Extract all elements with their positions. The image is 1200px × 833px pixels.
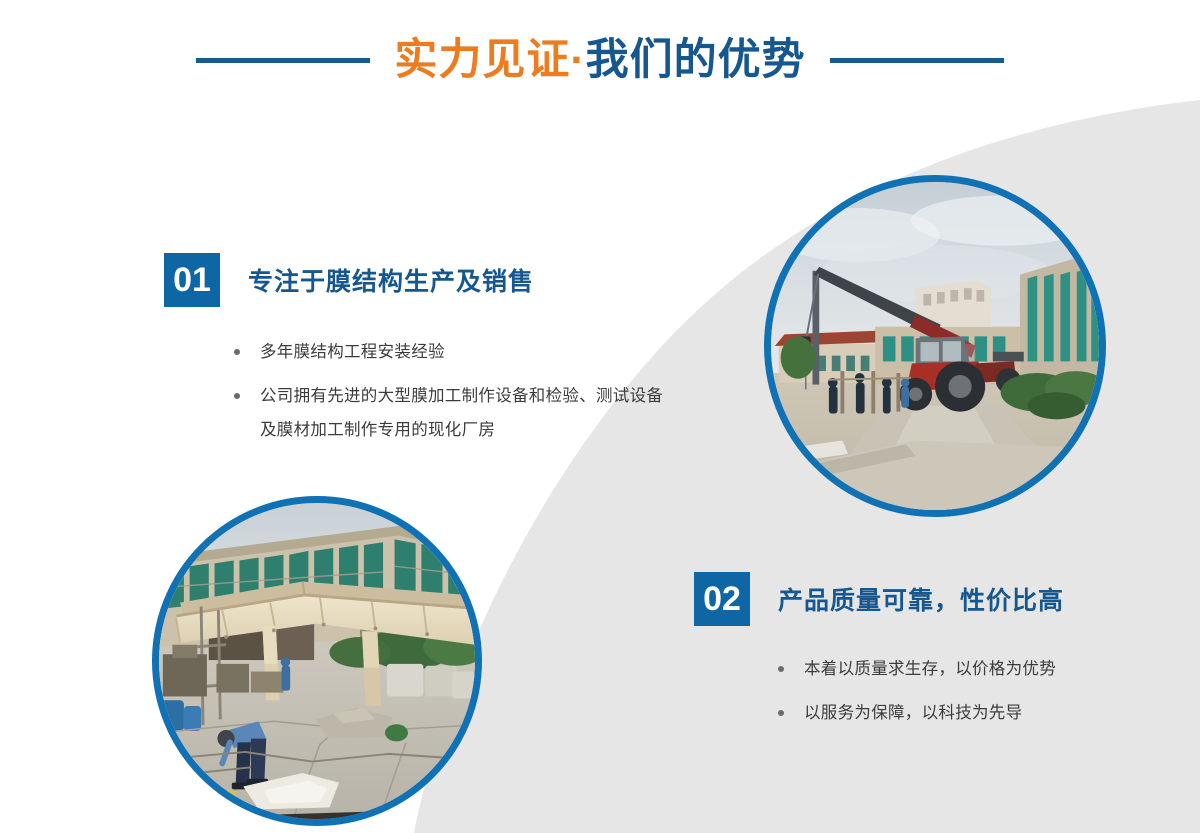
page-title-blue: 我们的优势: [586, 36, 806, 84]
header-rule-left-icon: [196, 58, 370, 63]
list-item: 公司拥有先进的大型膜加工制作设备和检验、测试设备及膜材加工制作专用的现化厂房: [234, 379, 664, 447]
photo-membrane-canopy-image: [159, 503, 475, 819]
feature-01-bullet-list: 多年膜结构工程安装经验 公司拥有先进的大型膜加工制作设备和检验、测试设备及膜材加…: [234, 335, 664, 447]
feature-02-title: 产品质量可靠，性价比高: [778, 581, 1064, 617]
list-item: 本着以质量求生存，以价格为优势: [778, 652, 1158, 686]
feature-block-02: 02 产品质量可靠，性价比高 本着以质量求生存，以价格为优势 以服务为保障，以科…: [694, 572, 1164, 740]
page-title-orange: 实力见证·: [394, 36, 585, 84]
feature-02-bullet-list: 本着以质量求生存，以价格为优势 以服务为保障，以科技为先导: [778, 652, 1158, 730]
bullet-dot-icon: [234, 393, 240, 399]
advantages-page: 实力见证·我们的优势: [0, 0, 1200, 833]
photo-crane-tractor: [764, 175, 1106, 517]
list-item-label: 多年膜结构工程安装经验: [260, 343, 445, 361]
photo-membrane-canopy: [152, 496, 482, 826]
list-item-label: 公司拥有先进的大型膜加工制作设备和检验、测试设备及膜材加工制作专用的现化厂房: [260, 387, 663, 439]
feature-01-number-badge: 01: [164, 253, 220, 307]
feature-02-header: 02 产品质量可靠，性价比高: [694, 572, 1164, 626]
page-header: 实力见证·我们的优势: [0, 28, 1200, 92]
header-rule-right-icon: [830, 58, 1004, 63]
list-item-label: 本着以质量求生存，以价格为优势: [804, 660, 1056, 678]
list-item: 以服务为保障，以科技为先导: [778, 696, 1158, 730]
feature-01-title: 专注于膜结构生产及销售: [248, 262, 534, 298]
feature-02-number-badge: 02: [694, 572, 750, 626]
bullet-dot-icon: [778, 710, 784, 716]
bullet-dot-icon: [778, 666, 784, 672]
list-item-label: 以服务为保障，以科技为先导: [804, 704, 1022, 722]
photo-crane-tractor-image: [771, 182, 1099, 510]
bullet-dot-icon: [234, 349, 240, 355]
page-title: 实力见证·我们的优势: [394, 39, 805, 82]
list-item: 多年膜结构工程安装经验: [234, 335, 664, 369]
feature-01-header: 01 专注于膜结构生产及销售: [164, 253, 704, 307]
feature-block-01: 01 专注于膜结构生产及销售 多年膜结构工程安装经验 公司拥有先进的大型膜加工制…: [164, 253, 704, 457]
